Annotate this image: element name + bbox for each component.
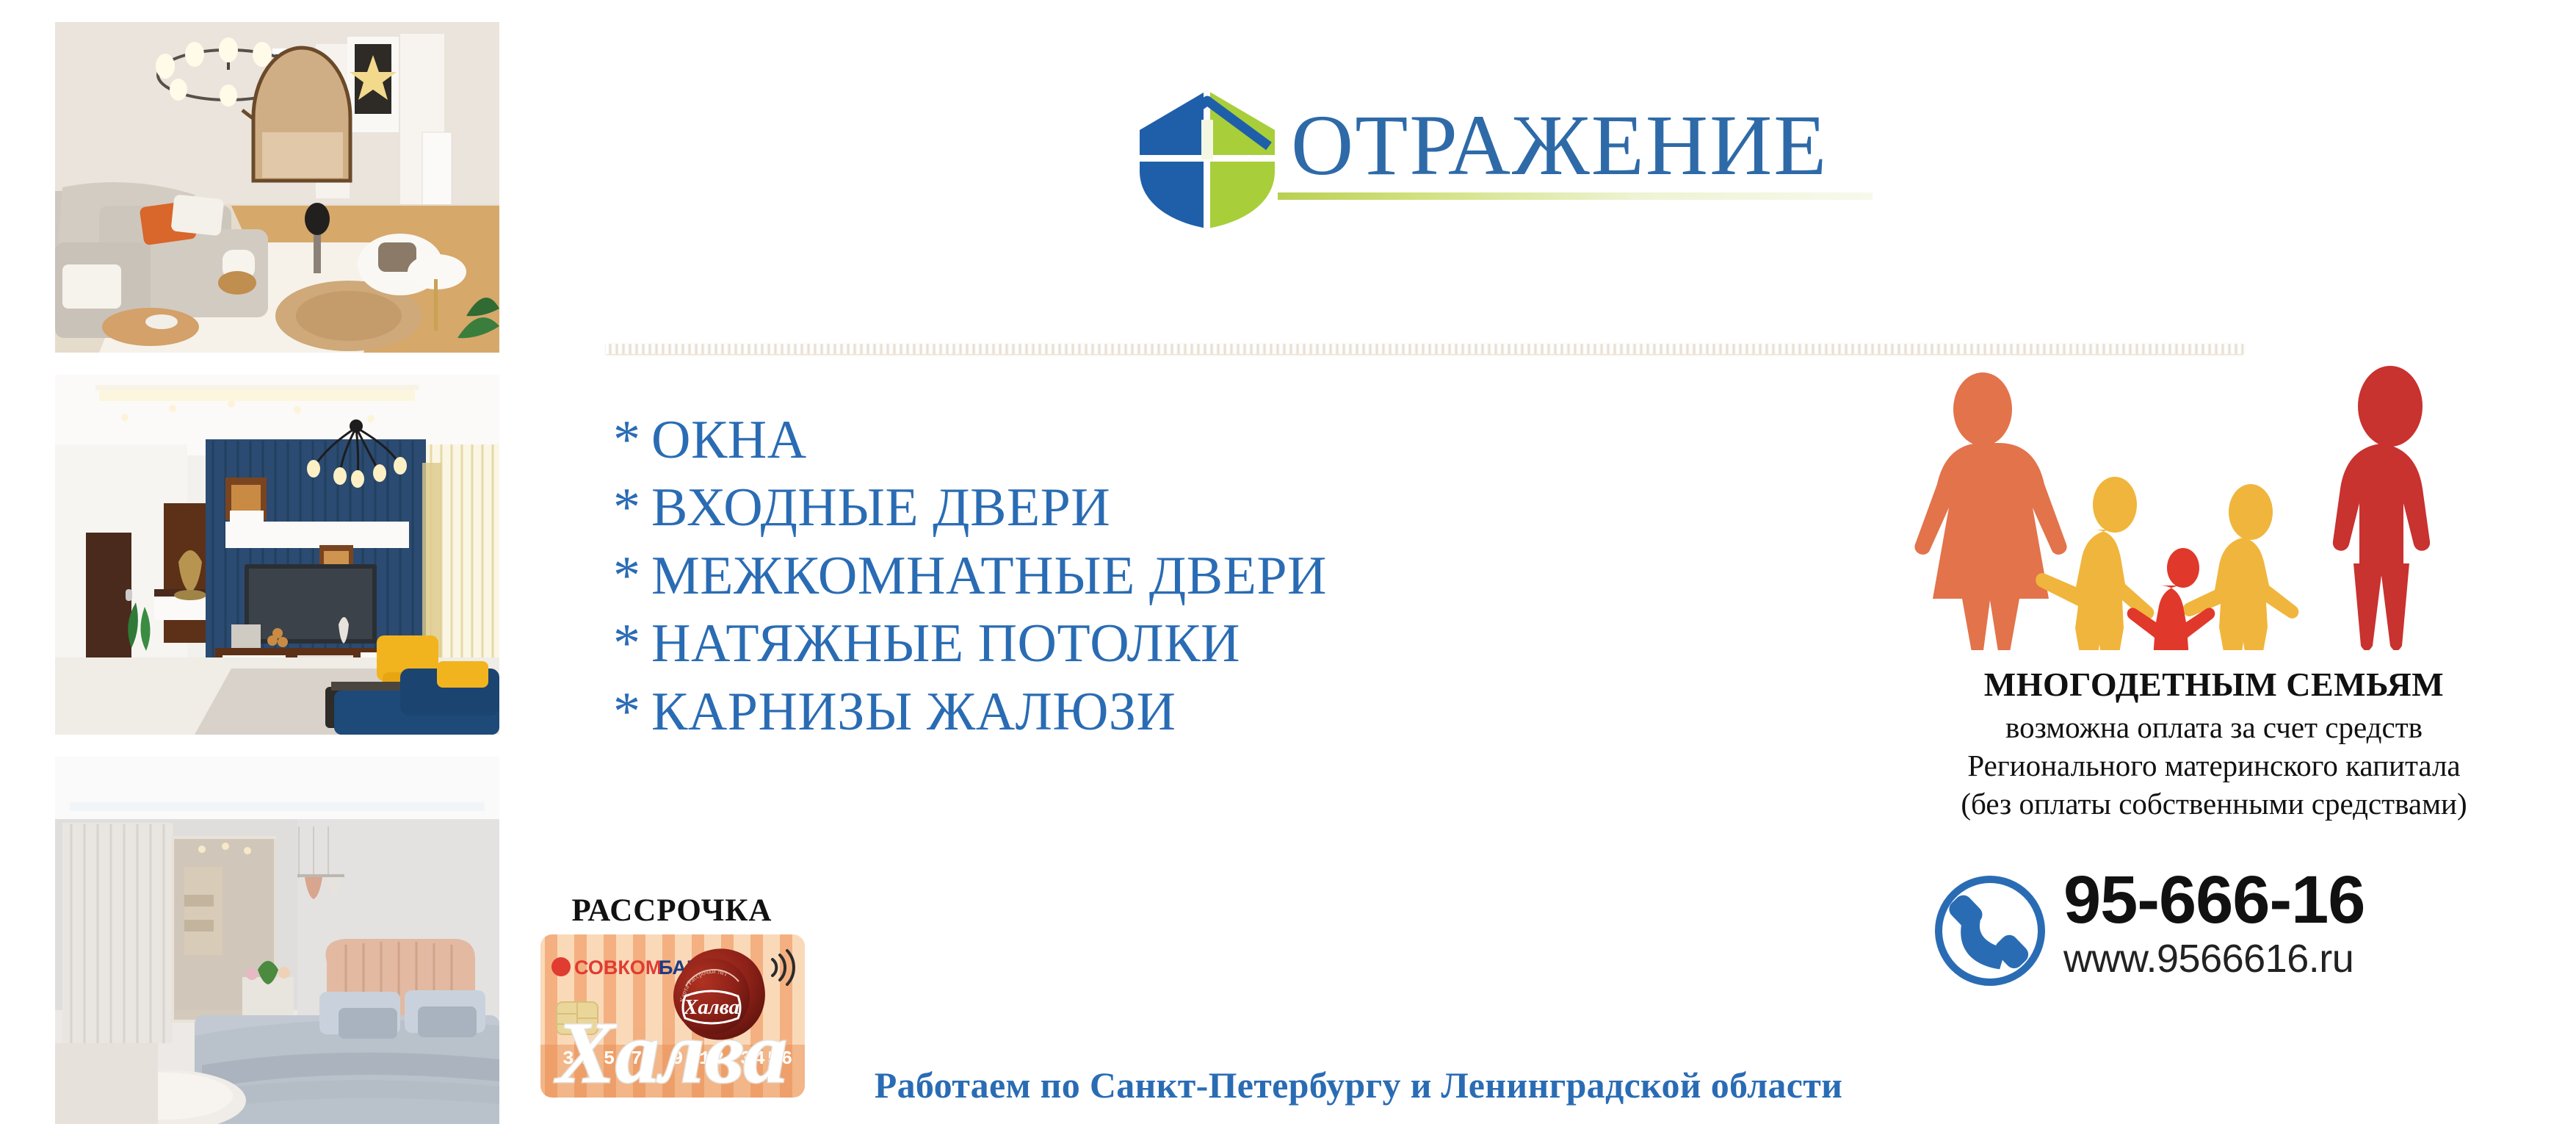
installment-title: РАССРОЧКА [514,893,830,929]
service-item-stretch-ceilings[interactable]: * НАТЯЖНЫЕ ПОТОЛКИ [613,615,1715,672]
multi-child-family-icon [1906,356,2486,650]
phone-number[interactable]: 95-666-16 [2063,865,2365,936]
capital-line-1: возможна оплата за счет средств [1847,708,2576,746]
mother-figure [1914,372,2066,650]
house-shield-logo-icon [1131,84,1289,231]
service-label: ВХОДНЫЕ ДВЕРИ [651,479,1110,536]
service-item-okna[interactable]: * ОКНА [613,411,1715,469]
coverage-footer: Работаем по Санкт-Петербургу и Ленинград… [661,1064,2056,1106]
bullet-star-icon: * [613,616,651,671]
website-url[interactable]: www.9566616.ru [2063,937,2365,981]
gold-divider [606,344,2243,354]
service-item-cornices-blinds[interactable]: * КАРНИЗЫ ЖАЛЮЗИ [613,683,1715,741]
service-item-entrance-doors[interactable]: * ВХОДНЫЕ ДВЕРИ [613,479,1715,536]
capital-line-2: Регионального материнского капитала [1847,746,2576,785]
service-label: МЕЖКОМНАТНЫЕ ДВЕРИ [651,547,1327,605]
svg-text:СОВКОМ: СОВКОМ [574,956,662,979]
father-figure [2333,366,2430,650]
capital-heading: МНОГОДЕТНЫМ СЕМЬЯМ [1847,665,2576,704]
brand-wordmark: ОТРАЖЕНИЕ [1291,102,1871,189]
bullet-star-icon: * [613,413,651,467]
sovcombank-logo-icon [551,957,571,976]
services-list: * ОКНА * ВХОДНЫЕ ДВЕРИ * МЕЖКОМНАТНЫЕ ДВ… [613,411,1715,751]
bullet-star-icon: * [613,480,651,535]
service-label: ОКНА [651,411,807,469]
living-room-chandelier-illustration [55,22,499,353]
service-label: КАРНИЗЫ ЖАЛЮЗИ [651,683,1176,741]
maternity-capital-note: МНОГОДЕТНЫМ СЕМЬЯМ возможна оплата за сч… [1847,665,2576,823]
child-figure-left [2036,477,2154,650]
service-item-interior-doors[interactable]: * МЕЖКОМНАТНЫЕ ДВЕРИ [613,547,1715,605]
bedroom-photo [55,757,499,1124]
bullet-star-icon: * [613,549,651,603]
contact-text: 95-666-16 www.9566616.ru [2063,865,2365,981]
brand-name: ОТРАЖЕНИЕ [1291,102,1871,189]
contact-block[interactable]: 95-666-16 www.9566616.ru [1931,871,2563,1010]
capital-line-3: (без оплаты собственными средствами) [1847,785,2576,823]
brand-logo: ОТРАЖЕНИЕ [1131,84,1873,231]
blue-tv-wall-illustration [55,375,499,735]
service-label: НАТЯЖНЫЕ ПОТОЛКИ [651,615,1240,672]
family-figures [1906,356,2486,650]
phone-handset-icon[interactable] [1931,872,2049,990]
living-room-chandelier-photo [55,22,499,353]
bedroom-illustration [55,757,499,1124]
bullet-star-icon: * [613,685,651,739]
logo-underline [1278,192,1873,200]
living-room-blue-tv-wall-photo [55,375,499,735]
